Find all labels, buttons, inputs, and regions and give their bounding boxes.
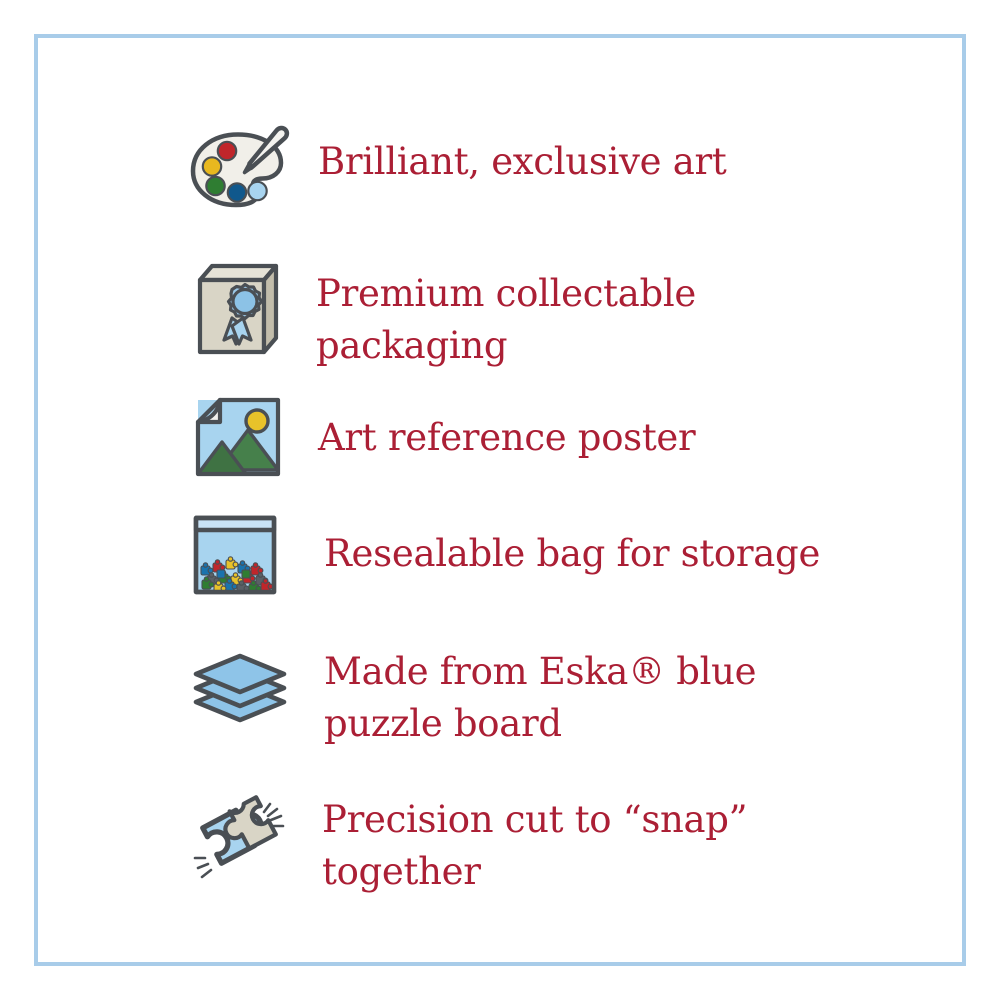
outer-border-frame: Brilliant, exclusive art [34, 34, 966, 966]
feature-row: Brilliant, exclusive art [186, 114, 726, 218]
feature-label: Made from Eska® blue puzzle board [324, 628, 756, 750]
feature-row: Made from Eska® blue puzzle board [186, 628, 756, 750]
feature-label: Premium collectable packaging [316, 250, 696, 372]
collectable-box-icon [186, 256, 290, 364]
feature-label: Art reference poster [318, 388, 695, 464]
feature-label: Brilliant, exclusive art [318, 114, 726, 188]
puzzle-board-layers-icon [186, 636, 294, 732]
feature-list-graphic: Brilliant, exclusive art [0, 0, 1000, 1000]
feature-row: Precision cut to “snap” together [178, 774, 747, 902]
feature-row: Art reference poster [186, 388, 695, 486]
art-reference-poster-icon [186, 392, 290, 486]
paint-palette-icon [186, 118, 290, 218]
feature-row: Premium collectable packaging [186, 250, 696, 372]
feature-label: Resealable bag for storage [324, 504, 820, 580]
feature-label: Precision cut to “snap” together [322, 774, 747, 898]
feature-list: Brilliant, exclusive art [38, 38, 962, 962]
snap-together-puzzle-icon [178, 778, 296, 902]
resealable-bag-icon [176, 508, 290, 608]
feature-row: Resealable bag for storage [176, 504, 820, 608]
